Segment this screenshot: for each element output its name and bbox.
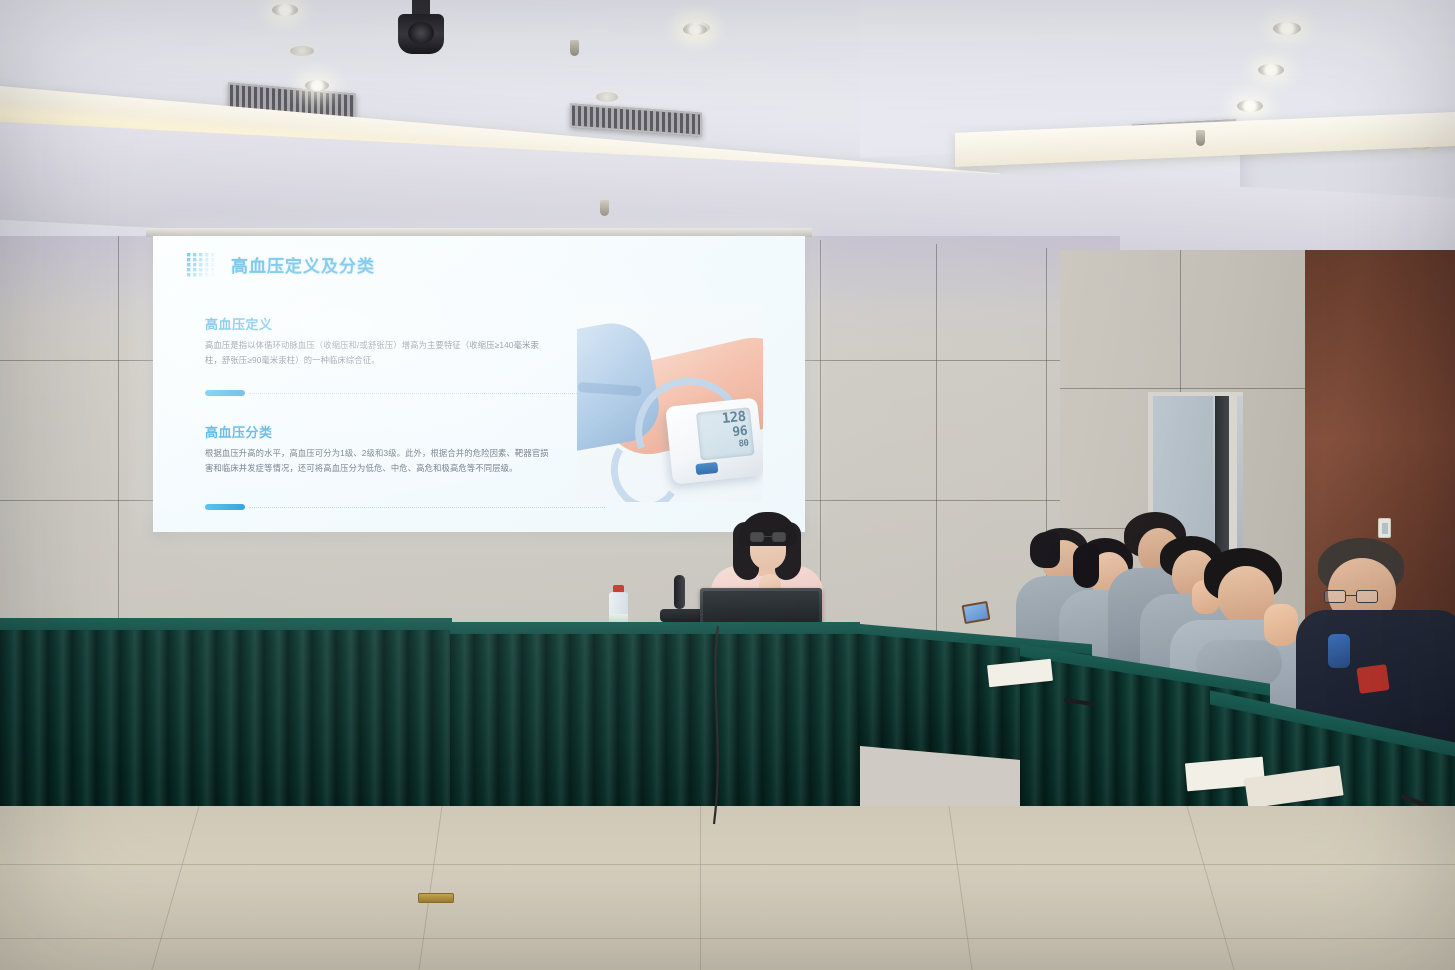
light-switch-plate[interactable] (1378, 518, 1391, 538)
section-body: 高血压是指以体循环动脉血压（收缩压和/或舒张压）增高为主要特征（收缩压≥140毫… (205, 338, 555, 368)
dotted-divider (249, 393, 605, 394)
ceiling-downlight (305, 80, 329, 91)
section-1-accent (205, 390, 605, 396)
ceiling-downlight (272, 4, 298, 16)
ceiling (0, 0, 1455, 250)
bp-monitor-device: 128 96 80 (665, 397, 763, 484)
glasses-icon (750, 532, 786, 543)
slide-title: 高血压定义及分类 (231, 252, 375, 277)
accent-bar (205, 390, 245, 396)
ceiling-downlight (1237, 100, 1263, 112)
ceiling-projector (398, 0, 444, 56)
wall-panel-seam (1060, 388, 1305, 389)
lanyard-badge (1328, 634, 1350, 668)
ceiling-downlight (1258, 64, 1284, 76)
wall-panel-seam (936, 244, 937, 644)
attendee-5-hand (1264, 604, 1298, 646)
sprinkler-head-icon (600, 200, 609, 216)
section-heading: 高血压分类 (205, 422, 555, 441)
section-body: 根据血压升高的水平，高血压可分为1级、2级和3级。此外，根据合并的危险因素、靶器… (205, 446, 555, 476)
slide-section-2: 高血压分类 根据血压升高的水平，高血压可分为1级、2级和3级。此外，根据合并的危… (205, 422, 555, 476)
bp-start-button[interactable] (695, 462, 718, 475)
ceiling-downlight (290, 46, 314, 56)
bp-lcd-display: 128 96 80 (696, 407, 755, 460)
projection-screen: 高血压定义及分类 高血压定义 高血压是指以体循环动脉血压（收缩压和/或舒张压）增… (153, 236, 805, 532)
laptop-screen (703, 591, 819, 622)
dot-grid-icon (187, 253, 221, 277)
projector-lens-icon (408, 22, 434, 44)
microphone-capsule-icon (674, 575, 685, 609)
sprinkler-head-icon (1196, 130, 1205, 146)
glasses-icon (1324, 590, 1378, 604)
accent-bar (205, 504, 245, 510)
diastolic-value: 96 (732, 424, 748, 440)
section-heading: 高血压定义 (205, 314, 555, 333)
dotted-divider (249, 507, 605, 508)
ceiling-downlight (1273, 22, 1301, 35)
floor-outlet (418, 893, 454, 903)
ceiling-downlight (596, 92, 618, 102)
blood-pressure-monitor-photo: 128 96 80 (577, 304, 763, 502)
presentation-slide: 高血压定义及分类 高血压定义 高血压是指以体循环动脉血压（收缩压和/或舒张压）增… (153, 236, 805, 532)
ceiling-downlight (683, 24, 707, 35)
wall-panel-seam (1180, 250, 1181, 395)
sprinkler-head-icon (570, 40, 579, 56)
floor (0, 806, 1455, 970)
wall-panel-seam (118, 236, 119, 666)
slide-title-row: 高血压定义及分类 (187, 252, 375, 277)
slide-section-1: 高血压定义 高血压是指以体循环动脉血压（收缩压和/或舒张压）增高为主要特征（收缩… (205, 314, 555, 368)
shoulder-patch (1356, 664, 1389, 694)
pulse-value: 80 (738, 439, 749, 450)
section-2-accent (205, 504, 605, 510)
cable (690, 626, 780, 826)
conference-room-scene: 高血压定义及分类 高血压定义 高血压是指以体循环动脉血压（收缩压和/或舒张压）增… (0, 0, 1455, 970)
